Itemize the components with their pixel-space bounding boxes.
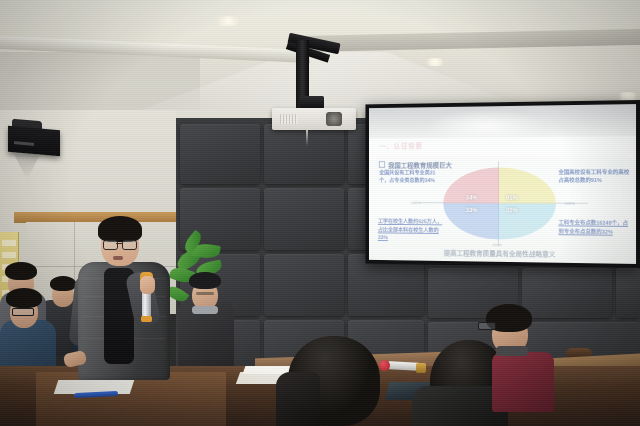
glasses-icon — [103, 240, 118, 250]
table-microphone-head-icon[interactable] — [379, 360, 390, 371]
projector-lens-icon — [326, 112, 342, 126]
projection-screen: 一、认证背景 我国工程教育规模巨大 全国共设有工科专业类31个，占专业类总数的3… — [365, 100, 640, 268]
wall-panel — [264, 124, 344, 184]
callout-bottom-right: 工科专业布点数16249个，占到专业布点总数的32% — [558, 220, 633, 237]
glasses-bridge — [116, 243, 122, 244]
wall-panel — [180, 124, 260, 184]
foreground-attendee-shoulders — [276, 372, 320, 426]
attendee-cap — [189, 272, 221, 289]
ceiling-shadow — [0, 52, 200, 118]
presenter-mouth — [113, 256, 123, 260]
axis-label-left: 100% — [411, 200, 420, 205]
pie-value-top-left: 34% — [466, 195, 478, 202]
pie-value-top-right: 91% — [506, 195, 518, 202]
microphone-ring — [141, 316, 152, 322]
callout-top-right: 全国高校设有工科专业的高校占高校总数的91% — [558, 169, 633, 185]
wall-panel — [522, 268, 612, 318]
attendee-hair — [6, 288, 42, 308]
presenter-hair — [98, 216, 142, 242]
axis-label-right: 100% — [565, 201, 575, 206]
axis-label-bottom: 100% — [492, 242, 502, 247]
table-microphone-base[interactable] — [416, 363, 426, 373]
callout-bottom-left: 工学在校生人数约525万人，占比全部本科在校生人数的33% — [378, 219, 442, 243]
pie-value-bottom-left: 33% — [466, 207, 478, 214]
screen-surface: 一、认证背景 我国工程教育规模巨大 全国共设有工科专业类31个，占专业类总数的3… — [369, 104, 636, 264]
photo-scene: 一、认证背景 我国工程教育规模巨大 全国共设有工科专业类31个，占专业类总数的3… — [0, 0, 640, 426]
downlight-icon — [213, 16, 243, 26]
slide-footer: 提高工程教育质量具有全局性战略意义 — [369, 248, 636, 261]
slide-content: 一、认证背景 我国工程教育规模巨大 全国共设有工科专业类31个，占专业类总数的3… — [369, 136, 636, 264]
attendee-hair — [50, 276, 76, 291]
downlight-icon — [424, 58, 446, 66]
attendee-body — [492, 352, 554, 412]
projector-cable — [306, 128, 308, 146]
glasses-icon — [12, 308, 34, 316]
glasses-icon — [122, 240, 137, 250]
wall-panel — [264, 188, 344, 250]
attendee-collar — [496, 346, 528, 356]
attendee-face-detail — [196, 292, 214, 295]
glasses-icon — [478, 322, 496, 330]
slide-title: 一、认证背景 — [379, 140, 422, 151]
projector-vent — [280, 114, 298, 124]
callout-top-left: 全国共设有工科专业类31个，占专业类总数的34% — [379, 170, 441, 186]
pie-chart-circle — [444, 167, 556, 240]
pie-chart: 34% 91% 33% 32% 100% 100% 100% — [444, 167, 556, 240]
bullet-icon — [379, 161, 385, 168]
wall-panel — [264, 254, 344, 316]
slide-divider — [377, 155, 628, 159]
attendee-hair — [5, 262, 37, 280]
wall-panel — [616, 268, 640, 318]
attendee-collar — [192, 306, 218, 314]
pie-value-bottom-right: 32% — [506, 208, 518, 215]
presenter-hand — [140, 276, 155, 294]
screen-hotspot — [425, 109, 547, 145]
